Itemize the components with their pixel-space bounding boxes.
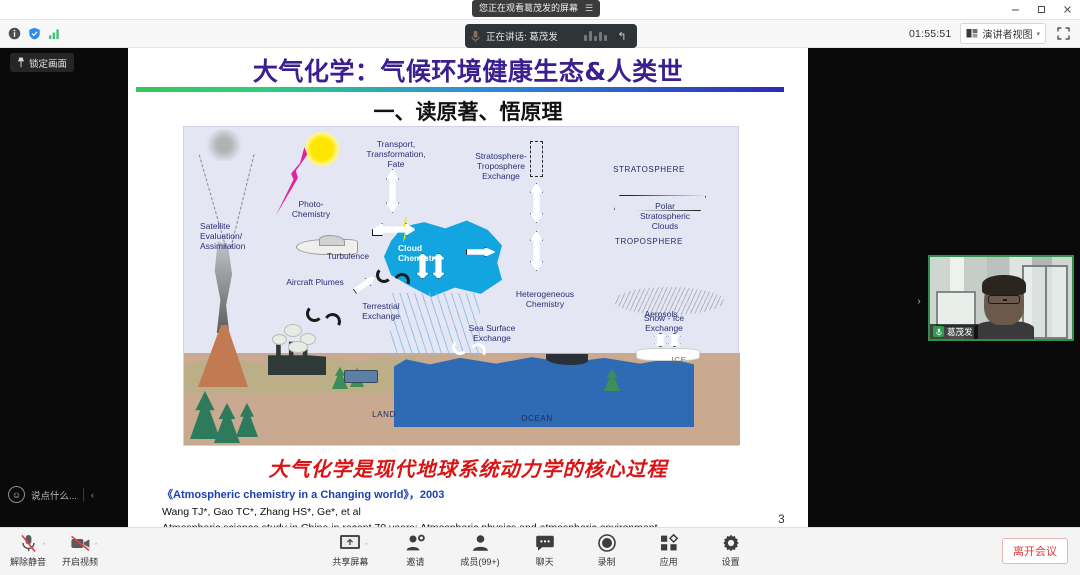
share-options-caret[interactable]: ＾ [362, 533, 370, 554]
arrow-vertical [668, 333, 681, 347]
chevron-down-icon: ▾ [1036, 30, 1040, 38]
chat-label: 聊天 [536, 555, 554, 568]
members-button[interactable]: 成员(99+) [460, 533, 499, 568]
mic-on-icon [933, 326, 944, 337]
participant-name: 葛茂发 [947, 326, 973, 338]
slide-authors: Wang TJ*, Gao TC*, Zhang HS*, Ge*, et al [162, 506, 361, 518]
divider [83, 488, 84, 502]
participant-hair [982, 275, 1026, 295]
shield-icon[interactable] [28, 27, 41, 40]
satellite-icon [202, 129, 246, 161]
info-icon[interactable] [8, 27, 21, 40]
label-cloud-chemistry: Cloud Chemistry [398, 243, 460, 263]
shared-screen-content: 大气化学：气候环境健康生态&人类世 一、读原著、悟原理 [128, 48, 808, 527]
emoji-icon[interactable]: ☺ [8, 486, 25, 503]
view-mode-selector[interactable]: 演讲者视图 ▾ [960, 23, 1046, 44]
chevron-left-icon[interactable]: ‹ [90, 490, 94, 500]
atmospheric-chemistry-diagram: Transport, Transformation, Fate Stratosp… [183, 126, 739, 446]
chat-button[interactable]: 聊天 [528, 533, 562, 568]
label-satellite-evaluation: Satellite Evaluation/ Assimilation [200, 221, 272, 251]
video-window-object [936, 291, 976, 327]
settings-button[interactable]: 设置 [714, 533, 748, 568]
truck-icon [344, 370, 378, 383]
audio-wave-icon [584, 31, 607, 41]
sun-icon [304, 131, 340, 167]
view-mode-label: 演讲者视图 [982, 26, 1032, 41]
left-side-rail: 锁定画面 ☺ 说点什么... ‹ [0, 48, 128, 527]
apps-label: 应用 [660, 555, 678, 568]
arrow-vertical [530, 183, 543, 223]
chevron-right-icon[interactable]: › [912, 290, 926, 312]
slide-subtitle: 一、读原著、悟原理 [128, 96, 808, 126]
label-polar-stratospheric-clouds: Polar Stratospheric Clouds [626, 201, 704, 231]
chat-icon [535, 533, 555, 553]
participant-video-tile[interactable]: 葛茂发 [928, 255, 1074, 341]
smoke-puff [272, 334, 287, 345]
screen-share-banner-label: 您正在观看葛茂发的屏幕 [479, 0, 578, 17]
leave-meeting-button[interactable]: 离开会议 [1002, 538, 1068, 564]
active-speaker-pill: 正在讲话: 葛茂发 ↰ [465, 24, 637, 48]
label-photochemistry: Photo- Chemistry [280, 199, 342, 219]
speaker-view-icon [966, 28, 978, 39]
quick-chat-bar[interactable]: ☺ 说点什么... ‹ [8, 486, 94, 503]
screen-share-banner: 您正在观看葛茂发的屏幕 ☰ [472, 0, 600, 17]
smoke-puff [284, 324, 302, 337]
mic-icon [471, 30, 480, 43]
volcano-plume [210, 241, 236, 333]
label-terrestrial-exchange: Terrestrial Exchange [346, 301, 416, 321]
label-heterogeneous-chemistry: Heterogeneous Chemistry [500, 289, 590, 309]
fullscreen-icon[interactable] [1055, 26, 1071, 42]
record-button[interactable]: 录制 [590, 533, 624, 568]
arrow-vertical [654, 333, 667, 347]
label-sea-surface-exchange: Sea Surface Exchange [452, 323, 532, 343]
label-turbulence: Turbulence [312, 251, 384, 261]
meeting-window: 您正在观看葛茂发的屏幕 ☰ 01:55:51 演讲者视图 ▾ [0, 0, 1080, 575]
terrestrial-curl [306, 305, 323, 322]
slide-title: 大气化学：气候环境健康生态&人类世 [128, 52, 808, 88]
label-land: LAND [354, 410, 414, 419]
apps-icon [660, 533, 678, 553]
arrow-vertical [386, 169, 399, 213]
label-stratosphere: STRATOSPHERE [594, 165, 704, 174]
maximize-icon[interactable] [1028, 1, 1054, 19]
terrestrial-curl [322, 311, 343, 332]
invite-label: 邀请 [406, 555, 424, 568]
label-aircraft-plumes: Aircraft Plumes [270, 277, 360, 287]
active-speaker-label: 正在讲话: 葛茂发 [486, 29, 558, 43]
label-snow-ice-exchange: Snow - Ice Exchange [624, 313, 704, 333]
record-icon [598, 533, 616, 553]
label-troposphere: TROPOSPHERE [594, 237, 704, 246]
pin-view-button[interactable]: 锁定画面 [10, 53, 74, 72]
label-transport: Transport, Transformation, Fate [354, 139, 438, 169]
share-screen-icon [339, 533, 361, 553]
pin-view-label: 锁定画面 [29, 56, 67, 70]
members-icon [471, 533, 490, 553]
invite-icon [405, 533, 426, 553]
participant-name-badge: 葛茂发 [930, 324, 978, 339]
settings-icon [722, 533, 740, 553]
label-ocean: OCEAN [502, 414, 572, 423]
turbulence-curl [376, 267, 392, 283]
invite-button[interactable]: 邀请 [398, 533, 432, 568]
record-label: 录制 [598, 555, 616, 568]
smoke-puff [288, 341, 308, 353]
label-ice: ICE [662, 356, 696, 365]
signal-bars-icon[interactable] [48, 27, 61, 40]
slide-page-number: 3 [778, 512, 785, 526]
participant-glasses [988, 295, 1020, 304]
minimize-icon[interactable] [1002, 1, 1028, 19]
slide-citation: 《Atmospheric chemistry in a Changing wor… [162, 486, 782, 502]
meeting-timer: 01:55:51 [909, 28, 951, 40]
pin-icon [17, 57, 25, 68]
quick-chat-input[interactable]: 说点什么... [31, 488, 77, 502]
close-icon[interactable] [1054, 1, 1080, 19]
label-stratosphere-troposphere-exchange: Stratosphere- Troposphere Exchange [460, 151, 542, 181]
arrow-vertical [530, 231, 543, 271]
meeting-toolbar: 解除静音 ＾ 开启视频 ＾ [0, 527, 1080, 575]
members-label: 成员(99+) [460, 555, 499, 568]
title-divider [136, 87, 784, 92]
slide-red-caption: 大气化学是现代地球系统动力学的核心过程 [128, 453, 808, 482]
back-arrow-icon[interactable]: ↰ [613, 30, 631, 43]
apps-button[interactable]: 应用 [652, 533, 686, 568]
menu-icon[interactable]: ☰ [585, 0, 593, 17]
settings-label: 设置 [722, 555, 740, 568]
share-screen-label: 共享屏幕 [332, 555, 368, 568]
